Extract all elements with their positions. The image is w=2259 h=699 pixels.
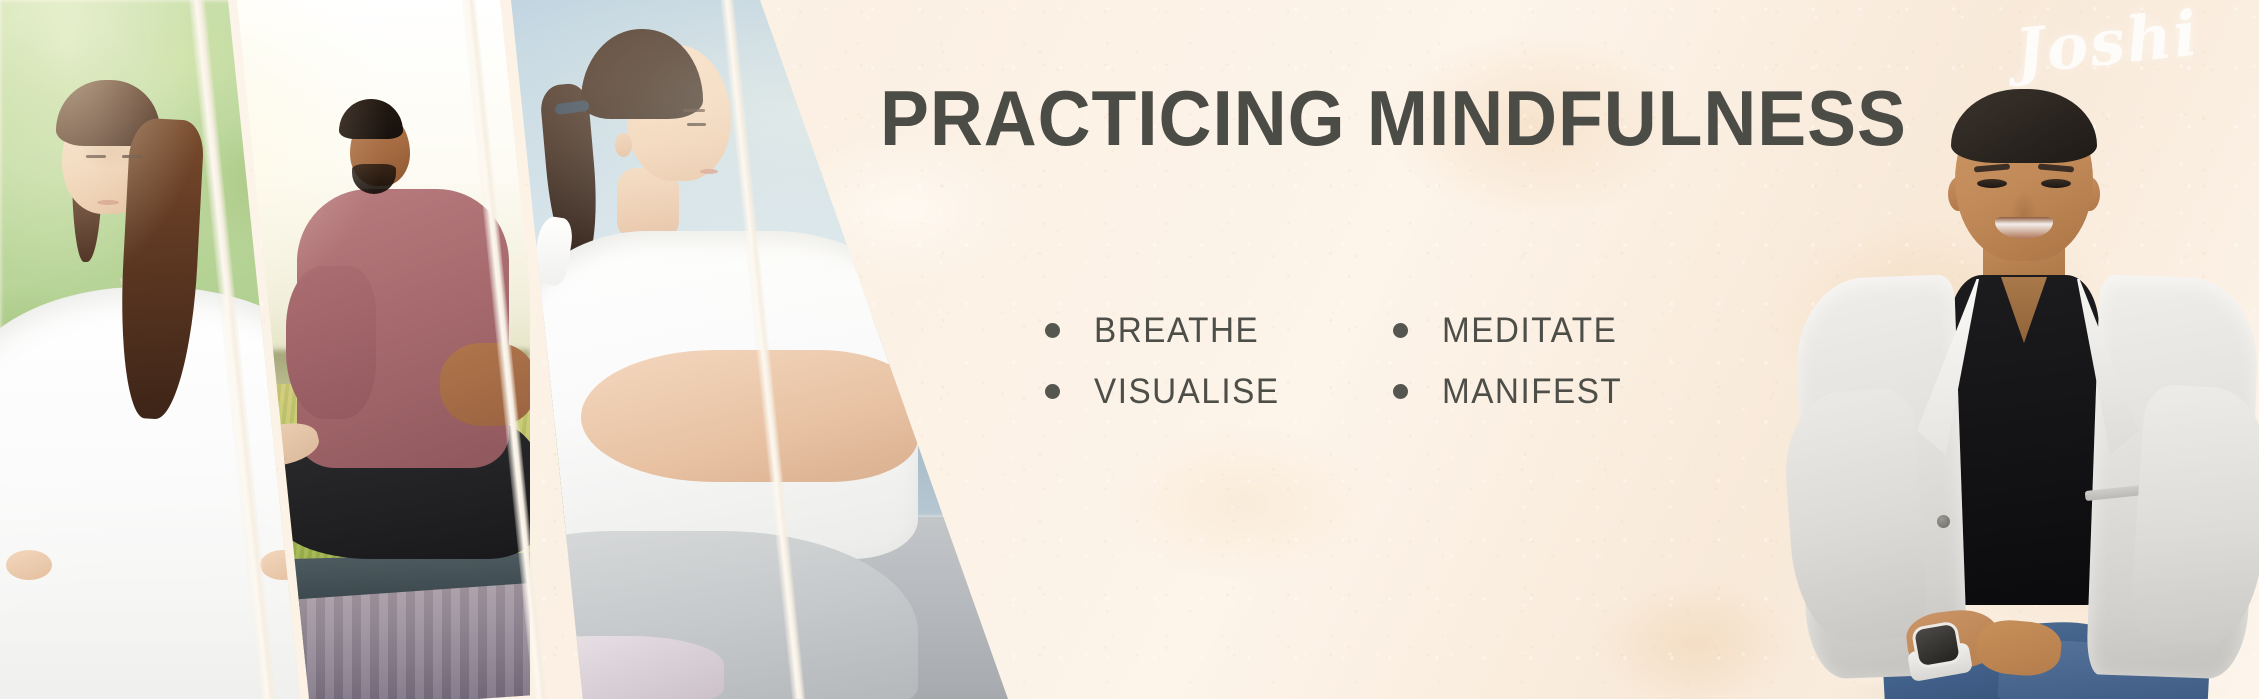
photo-collage — [0, 0, 1020, 699]
blazer-sleeve-right — [2128, 383, 2259, 649]
page-title: PRACTICING MINDFULNESS — [880, 79, 1907, 157]
blazer-button — [1937, 515, 1950, 528]
blazer-sleeve-left — [1780, 387, 1929, 646]
bullet-dot-icon — [1393, 384, 1408, 399]
list-item-meditate: MEDITATE — [1393, 311, 1741, 351]
list-item-label: VISUALISE — [1094, 372, 1280, 412]
list-item-breathe: BREATHE — [1045, 311, 1393, 351]
list-item-visualise: VISUALISE — [1045, 372, 1393, 412]
list-item-manifest: MANIFEST — [1393, 372, 1741, 412]
list-item-label: BREATHE — [1094, 311, 1259, 351]
left-eye — [1977, 179, 2007, 188]
list-item-label: MANIFEST — [1442, 372, 1622, 412]
bullet-dot-icon — [1045, 323, 1060, 338]
mindfulness-practice-list: BREATHE MEDITATE VISUALISE MANIFEST — [1045, 300, 1741, 422]
bullet-dot-icon — [1045, 384, 1060, 399]
mindfulness-banner: Joshi PRACTICING MINDFULNESS BREATHE MED… — [0, 0, 2259, 699]
portrait-man-in-blazer — [1789, 91, 2259, 699]
list-item-label: MEDITATE — [1442, 311, 1617, 351]
short-hair — [1951, 89, 2097, 163]
right-eye — [2041, 179, 2071, 188]
bullet-dot-icon — [1393, 323, 1408, 338]
smartwatch-face — [1914, 624, 1960, 666]
